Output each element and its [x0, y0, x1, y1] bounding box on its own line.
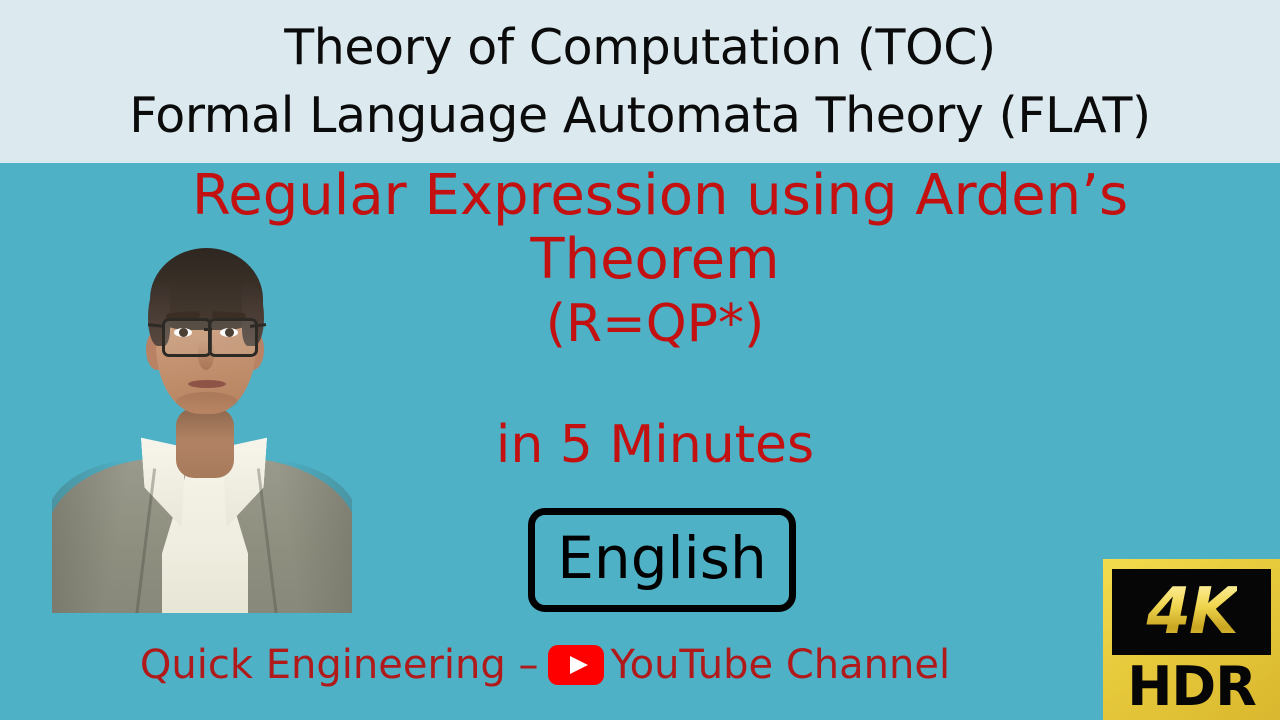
channel-name: Quick Engineering – [140, 645, 539, 685]
quality-badge-4k-box: 4K [1112, 569, 1271, 655]
channel-footer: Quick Engineering – YouTube Channel [0, 645, 1280, 685]
language-badge-label: English [557, 529, 766, 587]
eyeglasses-lens-left [162, 318, 212, 357]
language-badge: English [528, 508, 796, 612]
duration-text: in 5 Minutes [0, 415, 1280, 475]
video-thumbnail: Theory of Computation (TOC) Formal Langu… [0, 0, 1280, 720]
mouth [188, 380, 226, 388]
channel-suffix: YouTube Channel [610, 645, 950, 685]
header-band: Theory of Computation (TOC) Formal Langu… [0, 0, 1280, 163]
eyeglasses-bridge [204, 328, 212, 331]
quality-badge-dynamic-range-label: HDR [1112, 655, 1271, 719]
header-title-line-2: Formal Language Automata Theory (FLAT) [0, 87, 1280, 144]
jacket-shadow-left [52, 460, 138, 613]
jacket-shadow-right [266, 460, 352, 613]
header-title-line-1: Theory of Computation (TOC) [0, 19, 1280, 76]
youtube-icon[interactable] [548, 645, 604, 685]
quality-badge-resolution-label: 4K [1146, 580, 1236, 644]
quality-badge-4k-hdr: 4K HDR [1103, 559, 1280, 720]
chin-shadow [176, 392, 238, 412]
